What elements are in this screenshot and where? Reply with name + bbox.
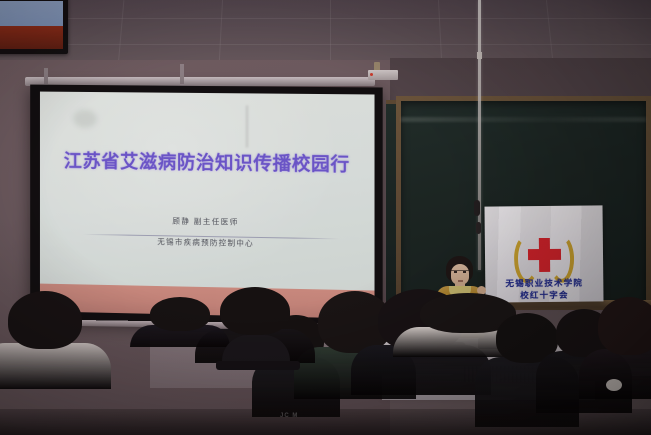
- roller-bracket-left: [44, 68, 48, 84]
- audience-member-head: [598, 297, 651, 355]
- audience-member-head: [220, 287, 290, 335]
- presentation-slide: 江苏省艾滋病防治知识传播校园行 顾静 副主任医师 无锡市疾病预防控制中心: [40, 92, 375, 319]
- audience-member-head: [150, 297, 210, 331]
- lecture-hall-photo: 江苏省艾滋病防治知识传播校园行 顾静 副主任医师 无锡市疾病预防控制中心: [0, 0, 651, 435]
- slide-title: 江苏省艾滋病防治知识传播校园行: [40, 147, 375, 177]
- slide-streak: [246, 105, 248, 147]
- wall-monitor[interactable]: [0, 0, 68, 54]
- speaker-eye-right: [463, 271, 466, 273]
- pole-joint: [477, 52, 482, 59]
- speaker-eye-left: [454, 271, 457, 273]
- monitor-image-ground: [0, 26, 63, 49]
- red-cross-banner: 无锡职业技术学院 校红十字会: [485, 205, 604, 302]
- roller-bracket-mid: [180, 64, 184, 84]
- projection-screen: 江苏省艾滋病防治知识传播校园行 顾静 副主任医师 无锡市疾病预防控制中心: [30, 85, 382, 329]
- red-cross-emblem-icon: [513, 234, 575, 277]
- wall-sensor: [368, 70, 398, 80]
- cross-horizontal-bar: [528, 249, 561, 260]
- slide-organization: 无锡市疾病预防控制中心: [40, 234, 375, 251]
- sensor-led-icon: [370, 73, 373, 76]
- chalkboard-glare: [401, 117, 646, 122]
- slide-presenter-name: 顾静 副主任医师: [40, 213, 375, 230]
- flag-clip-upper: [474, 200, 480, 216]
- slide-smudge: [73, 110, 97, 128]
- flag-clip-lower: [476, 222, 481, 234]
- hair-scrunchie: [606, 379, 622, 391]
- cap-brim: [216, 361, 300, 370]
- foreground-shadow: [0, 409, 651, 435]
- audience-member-body: [0, 343, 111, 389]
- monitor-image-sky: [0, 1, 63, 26]
- audience-member-body: [579, 349, 651, 399]
- audience-member-head: [8, 291, 82, 349]
